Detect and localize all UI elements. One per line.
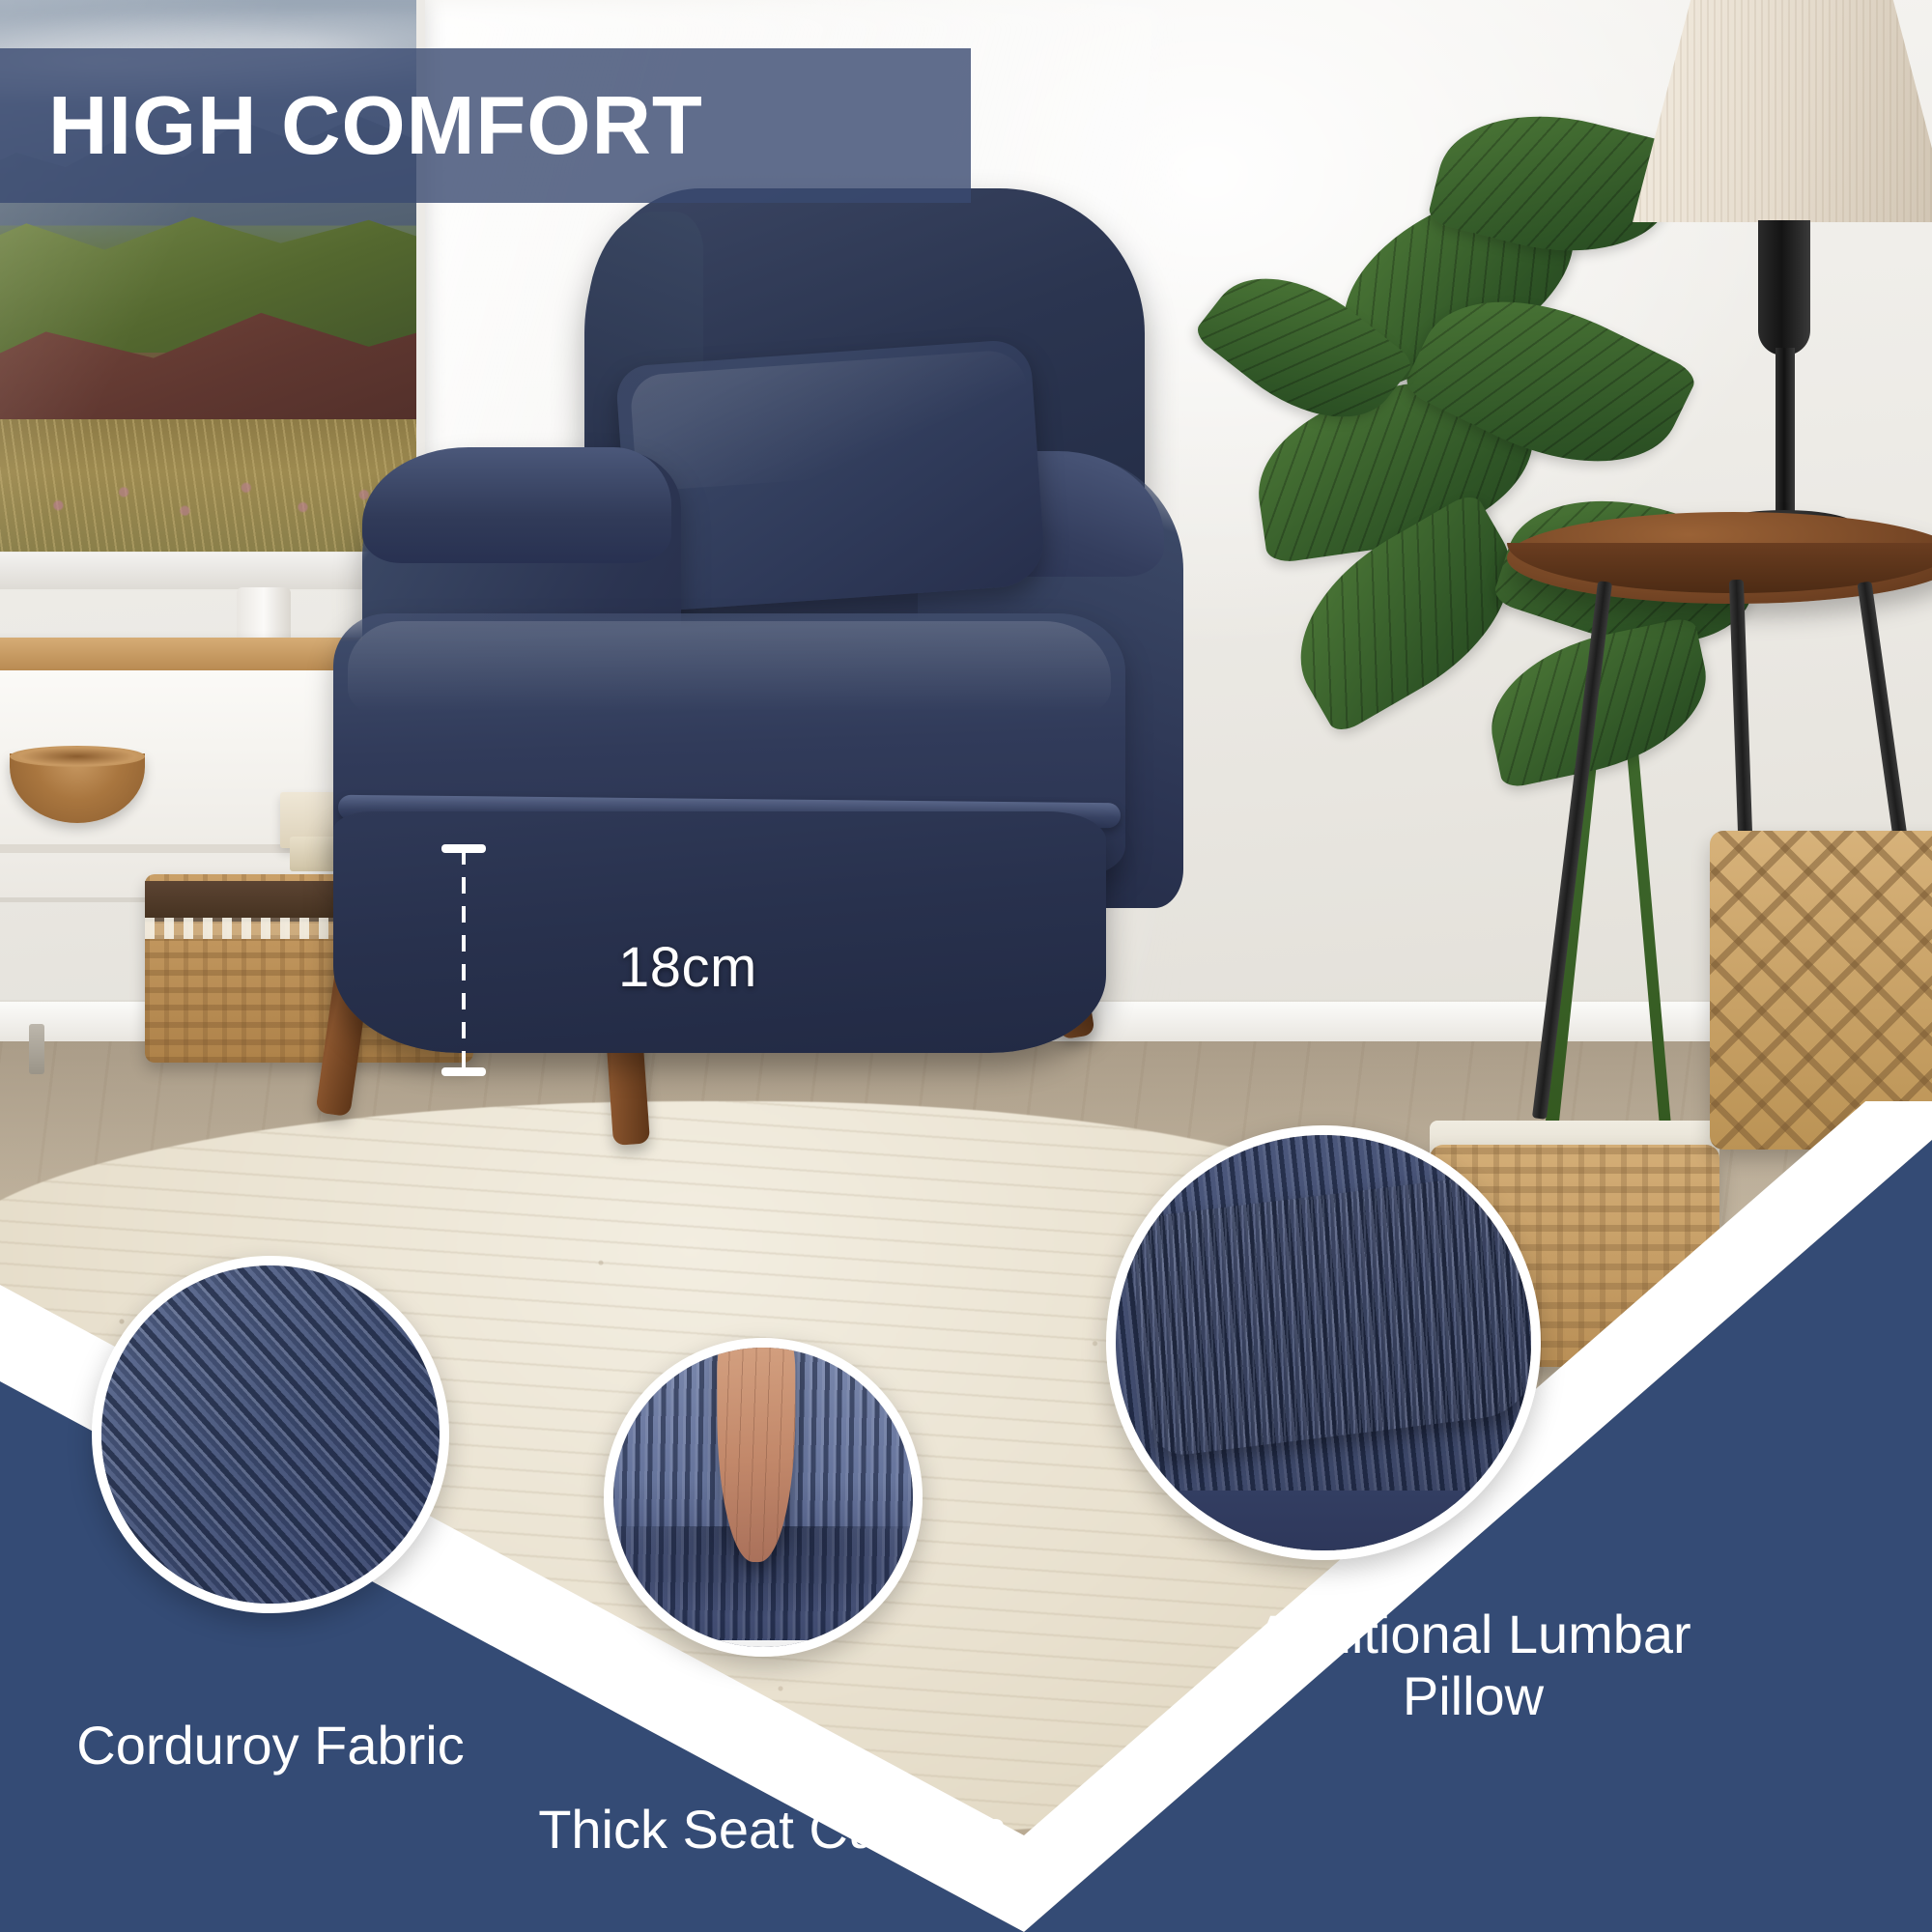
chair-seat-highlight (348, 621, 1111, 727)
corduroy-fabric-texture (92, 1256, 449, 1613)
feature-caption-lumbar-pillow-line1: Additional Lumbar (1092, 1604, 1855, 1665)
lamp-neck (1758, 220, 1810, 355)
media-console-leg (29, 1024, 44, 1074)
wooden-bowl-rim (10, 746, 145, 767)
product-feature-poster: 18cm HIGH COMFORT Corduroy Fabric Thick … (0, 0, 1932, 1932)
headline-banner: HIGH COMFORT (0, 48, 971, 203)
cushion-texture (604, 1338, 923, 1657)
feature-caption-corduroy-fabric: Corduroy Fabric (0, 1715, 541, 1776)
lumbar-pillow-closeup (1125, 1172, 1540, 1458)
navy-corduroy-armchair (367, 188, 1179, 1101)
headline-text: HIGH COMFORT (48, 85, 703, 167)
dimension-dashed-line-icon (462, 848, 466, 1074)
dimension-cap-bottom (441, 1067, 486, 1076)
feature-image-corduroy-fabric (92, 1256, 449, 1613)
television-bottom-bezel (0, 553, 425, 589)
feature-image-lumbar-pillow (1106, 1125, 1541, 1560)
feature-caption-thick-seat-cushion: Thick Seat Cushion (464, 1799, 1082, 1861)
feature-image-thick-seat-cushion (604, 1338, 923, 1657)
lamp-stem (1776, 348, 1795, 531)
dimension-label: 18cm (618, 935, 757, 1000)
feature-caption-lumbar-pillow-line2: Pillow (1092, 1665, 1855, 1727)
chair-arm-left-roll (362, 447, 671, 563)
feature-caption-lumbar-pillow: Additional Lumbar Pillow (1092, 1604, 1855, 1728)
chair-seat-in-closeup (1106, 1491, 1541, 1560)
lumbar-pillow-texture (1106, 1125, 1541, 1560)
